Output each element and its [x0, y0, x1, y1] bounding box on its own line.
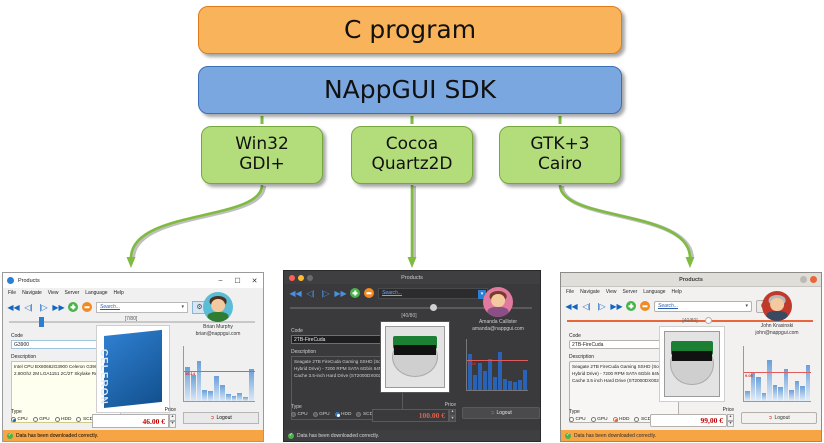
platform-cocoa-line1: Cocoa: [386, 135, 438, 155]
radio-hdd[interactable]: HDD: [55, 417, 72, 422]
type-radio-group[interactable]: CPU GPU HDD SCD: [291, 412, 373, 417]
product-image: CELERON: [96, 325, 170, 413]
first-record-icon[interactable]: ◀◀: [290, 288, 301, 299]
price-history-chart: 9.03: [466, 339, 528, 391]
menu-navigate[interactable]: Navigate: [22, 290, 42, 296]
avatar: [762, 291, 792, 321]
first-record-icon[interactable]: ◀◀: [566, 301, 577, 312]
slider-knob[interactable]: [39, 317, 44, 327]
chart-bars: [185, 346, 254, 401]
chart-reference-label: 10.14: [185, 371, 195, 376]
minimize-button[interactable]: [800, 276, 807, 283]
close-button[interactable]: [810, 276, 817, 283]
radio-cpu[interactable]: CPU: [569, 417, 586, 422]
logout-icon: ➲: [210, 415, 214, 421]
next-record-icon[interactable]: |▷: [596, 301, 607, 312]
page-indicator: [7/80]: [109, 316, 153, 322]
menu-server[interactable]: Server: [623, 289, 638, 295]
radio-hdd-dot[interactable]: [335, 412, 340, 417]
status-bar: Data has been downloaded correctly.: [3, 430, 263, 441]
radio-gpu-label: GPU: [39, 417, 49, 422]
gtk-titlebar: Products: [561, 273, 821, 287]
radio-cpu[interactable]: CPU: [11, 417, 28, 422]
price-history-chart: 10.14: [183, 346, 255, 402]
user-name: Amanda Callister: [454, 319, 541, 326]
architecture-diagram: C program NAppGUI SDK Win32 GDI+ Cocoa Q…: [0, 0, 824, 280]
price-stepper[interactable]: ▲▼: [449, 409, 456, 422]
chart-reference-label: 9.03: [468, 361, 476, 366]
macos-app-window[interactable]: Products ◀◀ ◁| |▷ ▶▶ Search... ▾ ⚙ Code …: [283, 270, 541, 442]
minimize-button[interactable]: –: [212, 277, 229, 285]
search-placeholder: Search...: [382, 290, 402, 296]
radio-gpu-label: GPU: [597, 417, 607, 422]
window-title: Products: [561, 277, 821, 283]
price-input[interactable]: 46.00 €: [92, 414, 169, 428]
maximize-button[interactable]: ☐: [229, 277, 246, 285]
type-radio-group[interactable]: CPU GPU HDD SCD: [11, 417, 93, 422]
avatar-head: [211, 299, 225, 313]
menu-navigate[interactable]: Navigate: [580, 289, 600, 295]
price-stepper[interactable]: ▲▼: [169, 414, 176, 428]
platform-gtk3-line2: Cairo: [538, 155, 582, 175]
radio-hdd-label: HDD: [619, 417, 629, 422]
windows-app-window[interactable]: Products – ☐ ✕ File Navigate View Server…: [2, 272, 264, 442]
remove-record-button[interactable]: [640, 301, 650, 311]
radio-gpu[interactable]: GPU: [591, 417, 608, 422]
radio-gpu-dot[interactable]: [591, 417, 596, 422]
radio-scd-dot[interactable]: [634, 417, 639, 422]
window-title: Products: [284, 275, 540, 281]
radio-gpu-label: GPU: [319, 412, 329, 417]
radio-hdd-label: HDD: [341, 412, 351, 417]
radio-cpu-dot[interactable]: [569, 417, 574, 422]
product-image: [659, 326, 725, 402]
avatar: [203, 292, 233, 322]
success-icon: [7, 433, 13, 439]
menu-view[interactable]: View: [606, 289, 617, 295]
platform-box-cocoa: Cocoa Quartz2D: [351, 126, 473, 184]
radio-scd-dot[interactable]: [356, 412, 361, 417]
logout-label: Logout: [774, 415, 789, 421]
user-name: Brian Murphy: [175, 324, 261, 331]
add-record-button[interactable]: [626, 301, 636, 311]
cpu-box-image: CELERON: [104, 330, 162, 408]
prev-record-icon[interactable]: ◁|: [23, 302, 34, 313]
radio-scd[interactable]: SCD: [76, 417, 93, 422]
stepper-down[interactable]: ▼: [727, 421, 734, 428]
radio-cpu-label: CPU: [298, 412, 308, 417]
app-icon: [7, 277, 14, 284]
menu-file[interactable]: File: [8, 290, 16, 296]
user-email: john@nappgui.com: [733, 330, 821, 337]
avatar-body: [488, 307, 509, 317]
status-text: Data has been downloaded correctly.: [574, 433, 656, 439]
next-record-icon[interactable]: |▷: [38, 302, 49, 313]
radio-gpu-dot[interactable]: [33, 417, 38, 422]
price-input[interactable]: 99,00 €: [650, 414, 727, 427]
radio-hdd-dot[interactable]: [55, 417, 60, 422]
radio-scd-dot[interactable]: [76, 417, 81, 422]
hard-drive-image: [664, 331, 720, 396]
menu-file[interactable]: File: [566, 289, 574, 295]
remove-record-button[interactable]: [82, 302, 92, 312]
radio-gpu-dot[interactable]: [313, 412, 318, 417]
hdd-strip: [394, 345, 436, 355]
first-record-icon[interactable]: ◀◀: [8, 302, 19, 313]
close-button[interactable]: ✕: [246, 277, 263, 285]
chart-reference-label: 9.05: [745, 373, 753, 378]
slider-knob[interactable]: [430, 304, 437, 311]
radio-gpu[interactable]: GPU: [33, 417, 50, 422]
search-placeholder: Search...: [658, 303, 678, 309]
radio-cpu-dot[interactable]: [291, 412, 296, 417]
price-label: Price: [650, 407, 734, 413]
success-icon: [288, 433, 294, 439]
logout-button[interactable]: ➲ Logout: [462, 407, 540, 419]
platform-gtk3-line1: GTK+3: [530, 135, 589, 155]
product-image: [380, 321, 450, 393]
radio-cpu-dot[interactable]: [11, 417, 16, 422]
nappgui-sdk-label: NAppGUI SDK: [324, 76, 496, 105]
price-label: Price: [372, 402, 456, 408]
logout-icon: ➲: [768, 415, 772, 421]
chart-bars: [468, 339, 527, 390]
type-label: Type: [569, 409, 651, 415]
window-controls[interactable]: – ☐ ✕: [212, 277, 263, 285]
logout-label: Logout: [496, 410, 511, 416]
last-record-icon[interactable]: ▶▶: [611, 301, 622, 312]
stepper-up[interactable]: ▲: [169, 414, 176, 421]
avatar-head: [491, 294, 505, 308]
stepper-down[interactable]: ▼: [449, 416, 456, 423]
radio-cpu-label: CPU: [18, 417, 28, 422]
page-indicator: [40/80]: [665, 318, 715, 324]
status-text: Data has been downloaded correctly.: [16, 433, 98, 439]
success-icon: [565, 433, 571, 439]
radio-gpu[interactable]: GPU: [313, 412, 330, 417]
last-record-icon[interactable]: ▶▶: [53, 302, 64, 313]
window-controls[interactable]: [800, 276, 817, 283]
c-program-label: C program: [344, 16, 476, 45]
type-label: Type: [291, 404, 373, 410]
page-indicator: [40/80]: [384, 313, 434, 319]
logout-label: Logout: [216, 415, 231, 421]
radio-hdd[interactable]: HDD: [335, 412, 352, 417]
user-name: John Krasinski: [733, 323, 821, 330]
gtk-app-window[interactable]: Products File Navigate View Server Langu…: [560, 272, 822, 442]
status-text: Data has been downloaded correctly.: [297, 433, 379, 439]
search-placeholder: Search...: [100, 304, 120, 310]
logout-button[interactable]: ➲ Logout: [741, 412, 817, 424]
platform-box-win32: Win32 GDI+: [201, 126, 323, 184]
menu-language[interactable]: Language: [643, 289, 665, 295]
menu-help[interactable]: Help: [672, 289, 682, 295]
nappgui-sdk-box: NAppGUI SDK: [198, 66, 622, 114]
prev-record-icon[interactable]: ◁|: [581, 301, 592, 312]
c-program-box: C program: [198, 6, 622, 54]
avatar-body: [208, 312, 229, 322]
stepper-down[interactable]: ▼: [169, 421, 176, 428]
price-history-chart: 9.05: [743, 346, 811, 402]
chart-reference-line: [467, 360, 528, 361]
hard-drive-image: [385, 326, 445, 388]
avatar-body: [767, 311, 788, 321]
macos-titlebar: Products: [284, 271, 540, 284]
prev-record-icon[interactable]: ◁|: [305, 288, 316, 299]
platform-cocoa-line2: Quartz2D: [371, 155, 452, 175]
next-record-icon[interactable]: |▷: [320, 288, 331, 299]
status-bar: Data has been downloaded correctly.: [284, 430, 540, 441]
radio-cpu-label: CPU: [576, 417, 586, 422]
radio-cpu[interactable]: CPU: [291, 412, 308, 417]
user-email: amanda@nappgui.com: [454, 326, 541, 333]
last-record-icon[interactable]: ▶▶: [335, 288, 346, 299]
hdd-strip: [672, 351, 711, 361]
platform-win32-line2: GDI+: [239, 155, 285, 175]
price-input[interactable]: 100.00 €: [372, 409, 449, 422]
radio-hdd-dot[interactable]: [613, 417, 618, 422]
price-label: Price: [92, 407, 176, 413]
chart-bars: [745, 346, 810, 401]
platform-win32-line1: Win32: [235, 135, 289, 155]
add-record-button[interactable]: [68, 302, 78, 312]
radio-hdd-label: HDD: [61, 417, 71, 422]
window-title: Products: [18, 278, 40, 284]
status-bar: Data has been downloaded correctly.: [561, 430, 821, 441]
type-label: Type: [11, 409, 93, 415]
price-stepper[interactable]: ▲▼: [727, 414, 734, 427]
remove-record-button[interactable]: [364, 288, 374, 298]
type-radio-group[interactable]: CPU GPU HDD SCD: [569, 417, 651, 422]
radio-hdd[interactable]: HDD: [613, 417, 630, 422]
menu-view[interactable]: View: [48, 290, 59, 296]
avatar-head: [770, 298, 784, 312]
logout-icon: ➲: [490, 410, 494, 416]
chart-reference-line: [744, 372, 811, 373]
avatar: [483, 287, 513, 317]
windows-titlebar: Products – ☐ ✕: [3, 273, 263, 288]
radio-scd[interactable]: SCD: [634, 417, 651, 422]
menu-language[interactable]: Language: [85, 290, 107, 296]
add-record-button[interactable]: [350, 288, 360, 298]
platform-box-gtk3: GTK+3 Cairo: [499, 126, 621, 184]
radio-scd[interactable]: SCD: [356, 412, 373, 417]
menu-help[interactable]: Help: [114, 290, 124, 296]
user-email: brian@nappgui.com: [175, 331, 261, 338]
logout-button[interactable]: ➲ Logout: [183, 412, 259, 424]
menu-server[interactable]: Server: [65, 290, 80, 296]
